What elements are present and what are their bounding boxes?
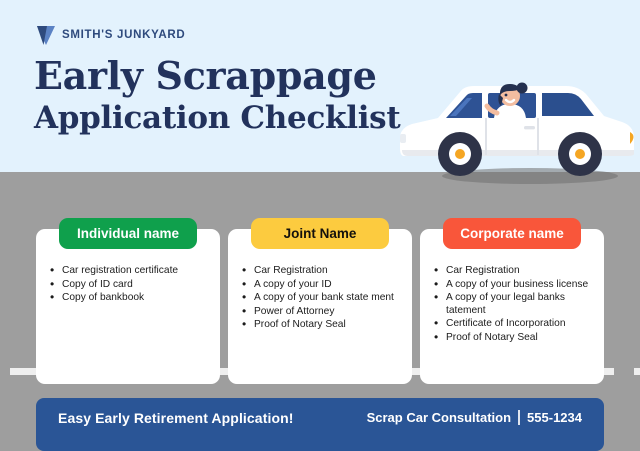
banner-contact-label: Scrap Car Consultation bbox=[367, 410, 511, 425]
checklist-card-individual[interactable]: Individual name Car registration certifi… bbox=[36, 229, 220, 384]
list-item: Copy of ID card bbox=[46, 279, 210, 292]
checklist-cards-row: Individual name Car registration certifi… bbox=[36, 229, 604, 384]
list-item: Certificate of Incorporation bbox=[430, 318, 594, 331]
checklist-items-joint: Car Registration A copy of your ID A cop… bbox=[238, 265, 402, 332]
list-item: Proof of Notary Seal bbox=[238, 319, 402, 332]
list-item: Copy of bankbook bbox=[46, 292, 210, 305]
list-item: A copy of your ID bbox=[238, 279, 402, 292]
banner-phone-number: 555-1234 bbox=[527, 410, 582, 425]
list-item: A copy of your legal banks tatement bbox=[430, 292, 594, 317]
list-item: Car registration certificate bbox=[46, 265, 210, 278]
checklist-items-corporate: Car Registration A copy of your business… bbox=[430, 265, 594, 345]
lane-dash bbox=[634, 368, 640, 375]
list-item: Power of Attorney bbox=[238, 306, 402, 319]
page-title-line-2: Application Checklist bbox=[34, 98, 400, 138]
contact-banner: Easy Early Retirement Application! Scrap… bbox=[36, 398, 604, 451]
page-title-line-1: Early Scrappage bbox=[34, 54, 400, 98]
page-title: Early Scrappage Application Checklist bbox=[34, 54, 400, 138]
card-header-joint: Joint Name bbox=[251, 218, 389, 249]
lane-dash bbox=[10, 368, 38, 375]
banner-tagline: Easy Early Retirement Application! bbox=[58, 410, 294, 426]
list-item: A copy of your bank state ment bbox=[238, 292, 402, 305]
card-header-corporate: Corporate name bbox=[443, 218, 581, 249]
checklist-items-individual: Car registration certificate Copy of ID … bbox=[46, 265, 210, 305]
checklist-card-corporate[interactable]: Corporate name Car Registration A copy o… bbox=[420, 229, 604, 384]
shield-diamond-icon bbox=[36, 24, 56, 46]
white-car-with-driver-illustration bbox=[398, 58, 640, 188]
list-item: A copy of your business license bbox=[430, 279, 594, 292]
brand-name: SMITH'S JUNKYARD bbox=[62, 29, 185, 41]
list-item: Car Registration bbox=[430, 265, 594, 278]
list-item: Car Registration bbox=[238, 265, 402, 278]
brand-logo[interactable]: SMITH'S JUNKYARD bbox=[36, 24, 185, 46]
checklist-card-joint[interactable]: Joint Name Car Registration A copy of yo… bbox=[228, 229, 412, 384]
card-header-individual: Individual name bbox=[59, 218, 197, 249]
poster-root: SMITH'S JUNKYARD Early Scrappage Applica… bbox=[0, 0, 640, 451]
banner-separator bbox=[518, 410, 520, 425]
banner-contact[interactable]: Scrap Car Consultation 555-1234 bbox=[367, 410, 582, 425]
list-item: Proof of Notary Seal bbox=[430, 332, 594, 345]
